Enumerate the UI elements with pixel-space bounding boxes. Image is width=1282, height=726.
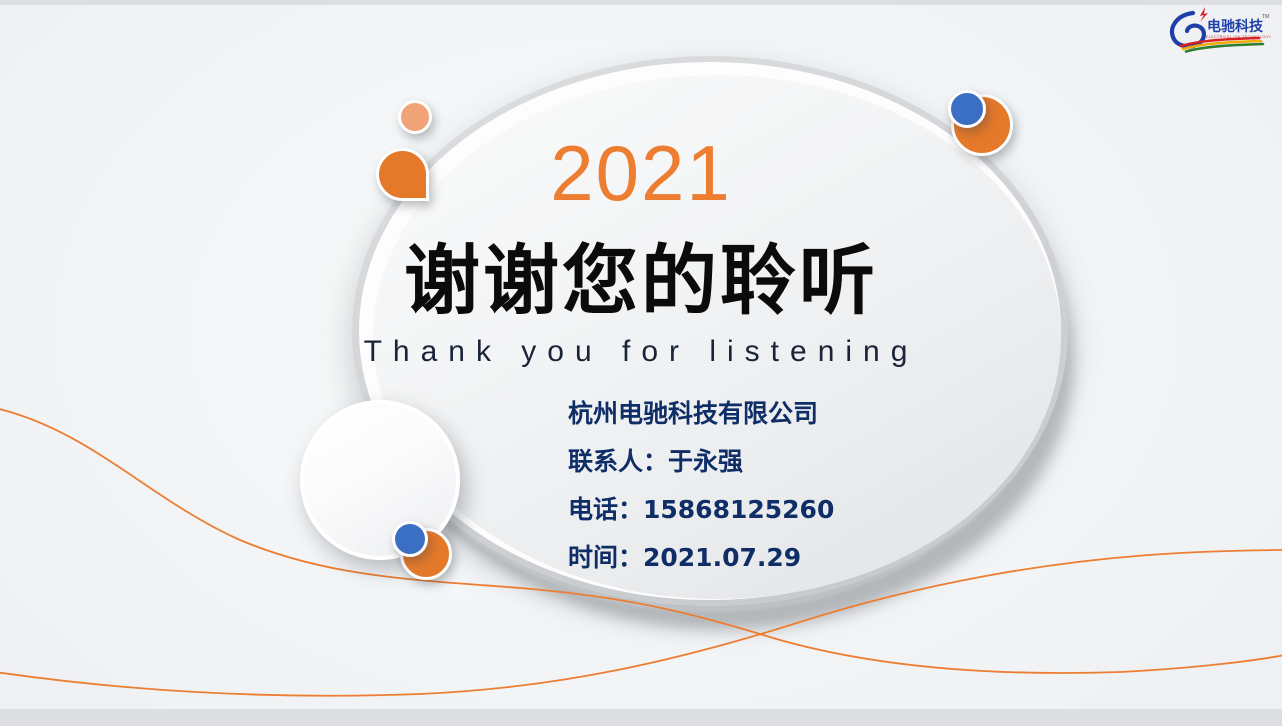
company-logo: 电驰科技 TM ELECTRICAL CHI TECHNOLOGY — [1167, 5, 1275, 53]
contact-person: 联系人：于永强 — [568, 438, 834, 486]
contact-company: 杭州电驰科技有限公司 — [568, 390, 834, 438]
year-label: 2021 — [0, 134, 1282, 212]
slide-frame-top — [0, 0, 1282, 5]
decor-circle-blue-bottom-left — [392, 521, 428, 557]
slide-canvas: 2021 谢谢您的聆听 Thank you for listening 杭州电驰… — [0, 0, 1282, 726]
decor-circle-blue-top-right — [948, 90, 986, 128]
logo-trademark: TM — [1262, 14, 1269, 20]
headline-chinese: 谢谢您的聆听 — [0, 243, 1282, 319]
contact-date: 时间：2021.07.29 — [568, 534, 834, 582]
decor-circle-peach-top-left — [398, 100, 432, 134]
slide-frame-bottom — [0, 709, 1282, 726]
headline-english: Thank you for listening — [0, 334, 1282, 370]
contact-info-list: 杭州电驰科技有限公司 联系人：于永强 电话：15868125260 时间：202… — [568, 390, 834, 582]
contact-phone: 电话：15868125260 — [568, 486, 834, 534]
logo-name-cn: 电驰科技 — [1207, 18, 1264, 35]
